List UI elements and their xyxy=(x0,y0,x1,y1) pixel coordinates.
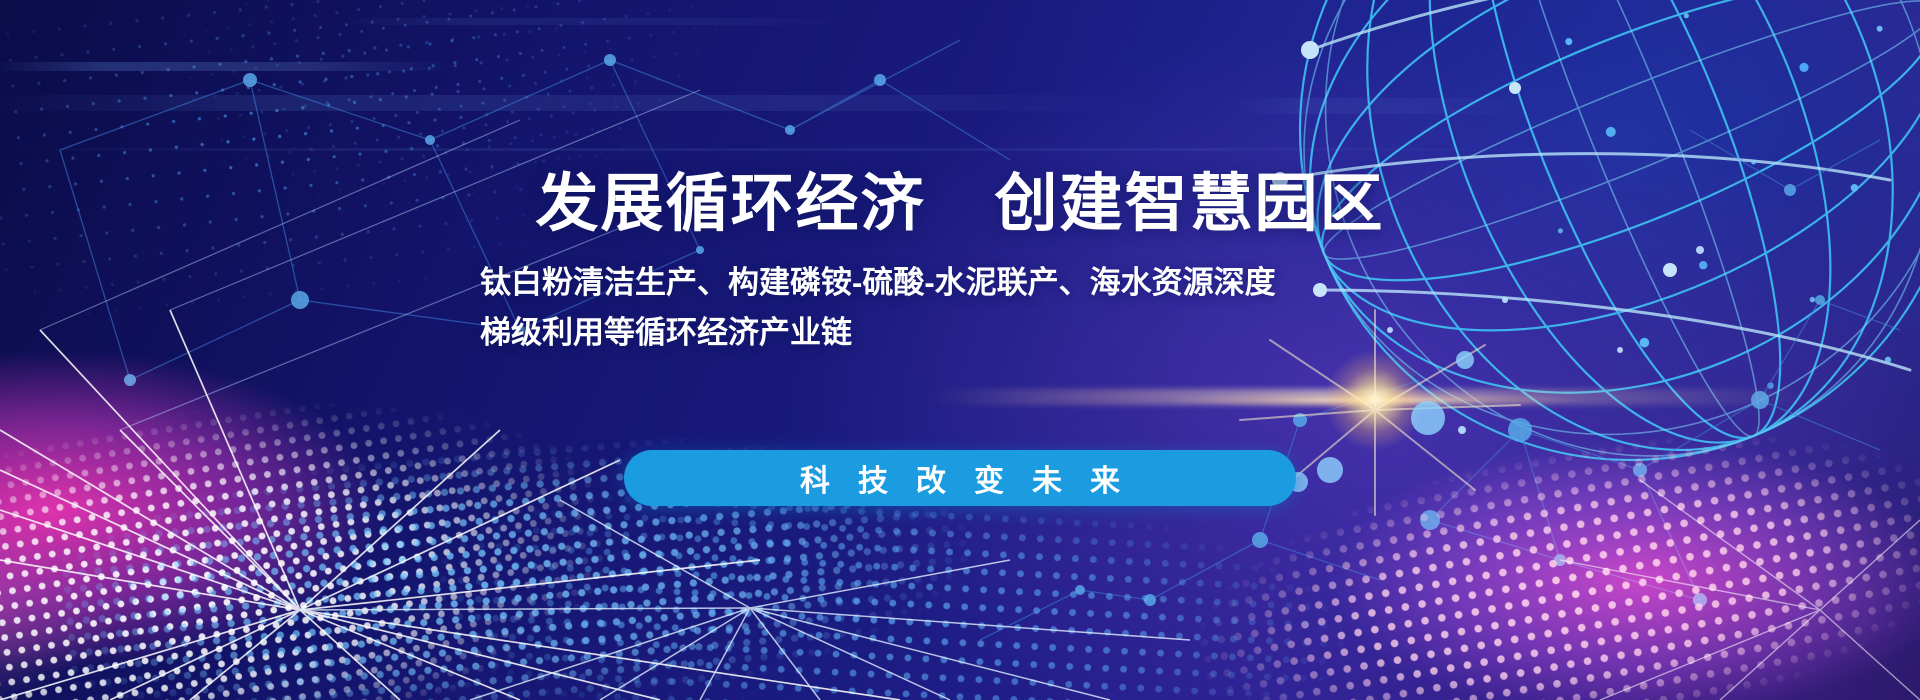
subtitle-line-1: 钛白粉清洁生产、构建磷铵-硫酸-水泥联产、海水资源深度 xyxy=(480,258,1440,308)
cta-button[interactable]: 科技改变未来 xyxy=(624,450,1296,506)
headline-part-1: 发展循环经济 xyxy=(535,169,925,239)
subtitle-line-2: 梯级利用等循环经济产业链 xyxy=(480,308,1440,358)
subtitle: 钛白粉清洁生产、构建磷铵-硫酸-水泥联产、海水资源深度 梯级利用等循环经济产业链 xyxy=(480,258,1440,358)
banner-content: 发展循环经济 创建智慧园区 钛白粉清洁生产、构建磷铵-硫酸-水泥联产、海水资源深… xyxy=(0,0,1920,700)
hero-banner: 发展循环经济 创建智慧园区 钛白粉清洁生产、构建磷铵-硫酸-水泥联产、海水资源深… xyxy=(0,0,1920,700)
page-title: 发展循环经济 创建智慧园区 xyxy=(535,173,1384,236)
headline-part-2: 创建智慧园区 xyxy=(995,169,1385,239)
